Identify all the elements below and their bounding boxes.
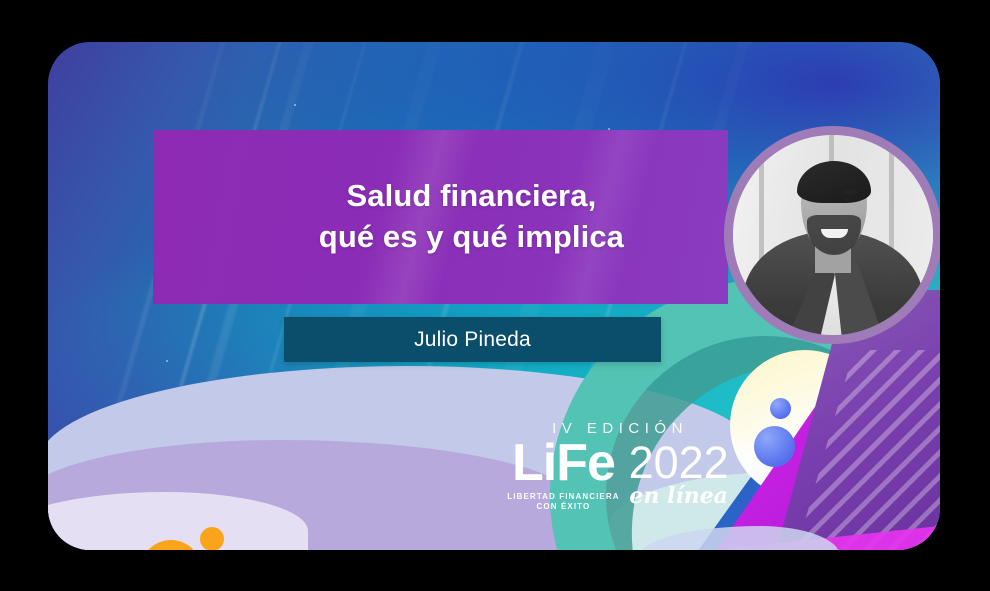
slide-title-line-1: Salud financiera, (319, 176, 624, 217)
logo-tagline-line-2: CON ÉXITO (507, 502, 619, 512)
presentation-slide-card: Salud financiera, qué es y qué implica J… (48, 42, 940, 550)
slide-title-line-2: qué es y qué implica (319, 217, 624, 258)
speaker-portrait (724, 126, 940, 344)
blue-circle-large (754, 426, 795, 467)
slide-title: Salud financiera, qué es y qué implica (319, 176, 624, 258)
logo-brand-name: LiFe (512, 439, 615, 489)
title-banner: Salud financiera, qué es y qué implica (153, 130, 728, 304)
event-logo: IV EDICIÓN LiFe LIBERTAD FINANCIERA CON … (498, 420, 738, 512)
speaker-name: Julio Pineda (414, 328, 531, 352)
blue-circle-small (770, 398, 791, 419)
orange-circle-small (200, 527, 224, 550)
portrait-photo (733, 135, 933, 335)
speaker-name-bar: Julio Pineda (284, 317, 661, 362)
logo-online-label: en línea (629, 485, 728, 507)
logo-year: 2022 (629, 441, 729, 484)
logo-tagline-line-1: LIBERTAD FINANCIERA (507, 492, 619, 502)
